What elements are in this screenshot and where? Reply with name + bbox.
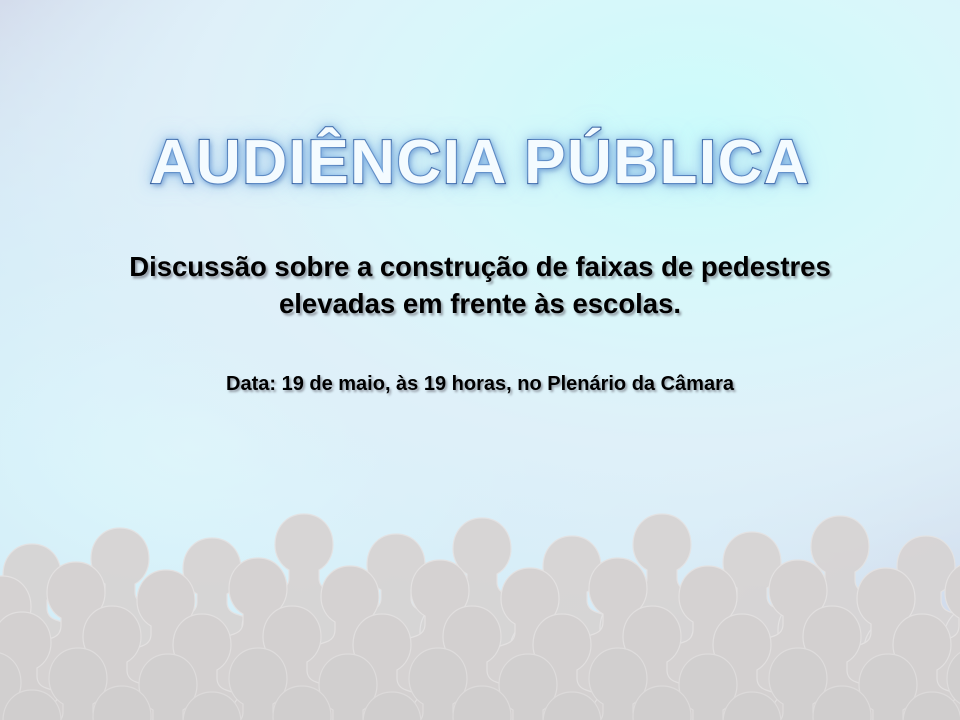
event-date-text: Data: 19 de maio, às 19 horas, no Plenár… bbox=[0, 371, 960, 397]
crowd-icon bbox=[0, 488, 960, 720]
page-title: AUDIÊNCIA PÚBLICA bbox=[150, 130, 810, 195]
date-block: Data: 19 de maio, às 19 horas, no Plenár… bbox=[0, 371, 960, 397]
title-block: AUDIÊNCIA PÚBLICA bbox=[0, 130, 960, 195]
subtitle-block: Discussão sobre a construção de faixas d… bbox=[0, 249, 960, 323]
subtitle-text: Discussão sobre a construção de faixas d… bbox=[85, 249, 875, 323]
slide-canvas: AUDIÊNCIA PÚBLICA Discussão sobre a cons… bbox=[0, 0, 960, 720]
crowd-silhouettes bbox=[0, 488, 960, 720]
